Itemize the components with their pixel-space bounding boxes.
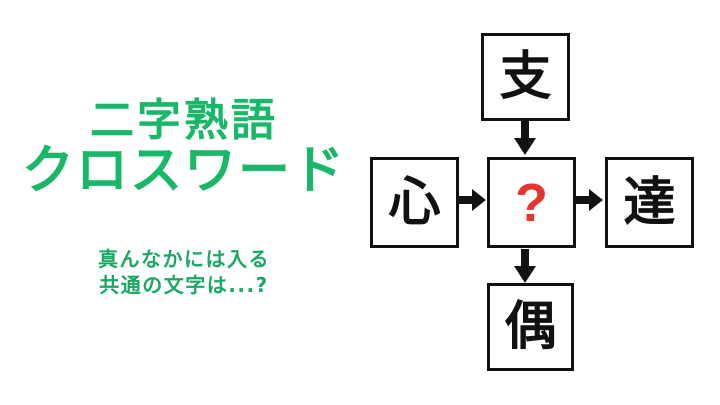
subtitle-line-1: 真んなかには入る (0, 247, 368, 273)
puzzle-cell-right: 達 (605, 157, 694, 248)
arrow-right-icon-left (459, 188, 487, 212)
puzzle-cell-bottom: 偶 (487, 283, 574, 371)
title-panel: 二字熟語 クロスワード 真んなかには入る 共通の文字は...? (0, 0, 368, 405)
arrow-right-icon-right (576, 188, 604, 212)
puzzle-cell-bottom-kanji: 偶 (504, 301, 556, 353)
puzzle-cell-top: 支 (481, 33, 570, 121)
title-line-1: 二字熟語 (0, 98, 368, 143)
page-title: 二字熟語 クロスワード (0, 98, 368, 199)
arrow-down-icon-top (513, 121, 537, 157)
crossword-diagram: 支 心 ? 達 (360, 0, 720, 405)
puzzle-card: 二字熟語 クロスワード 真んなかには入る 共通の文字は...? 支 心 ? (0, 0, 720, 405)
puzzle-cell-right-kanji: 達 (623, 177, 675, 229)
page-subtitle: 真んなかには入る 共通の文字は...? (0, 247, 368, 298)
puzzle-cell-left: 心 (370, 157, 459, 248)
arrow-down-icon-bottom (513, 249, 537, 285)
puzzle-cell-left-kanji: 心 (388, 177, 440, 229)
title-line-2: クロスワード (0, 145, 368, 199)
puzzle-cell-top-kanji: 支 (499, 51, 551, 103)
subtitle-line-2: 共通の文字は...? (0, 273, 368, 299)
question-mark-icon: ? (515, 176, 548, 230)
puzzle-cell-center[interactable]: ? (487, 157, 576, 248)
